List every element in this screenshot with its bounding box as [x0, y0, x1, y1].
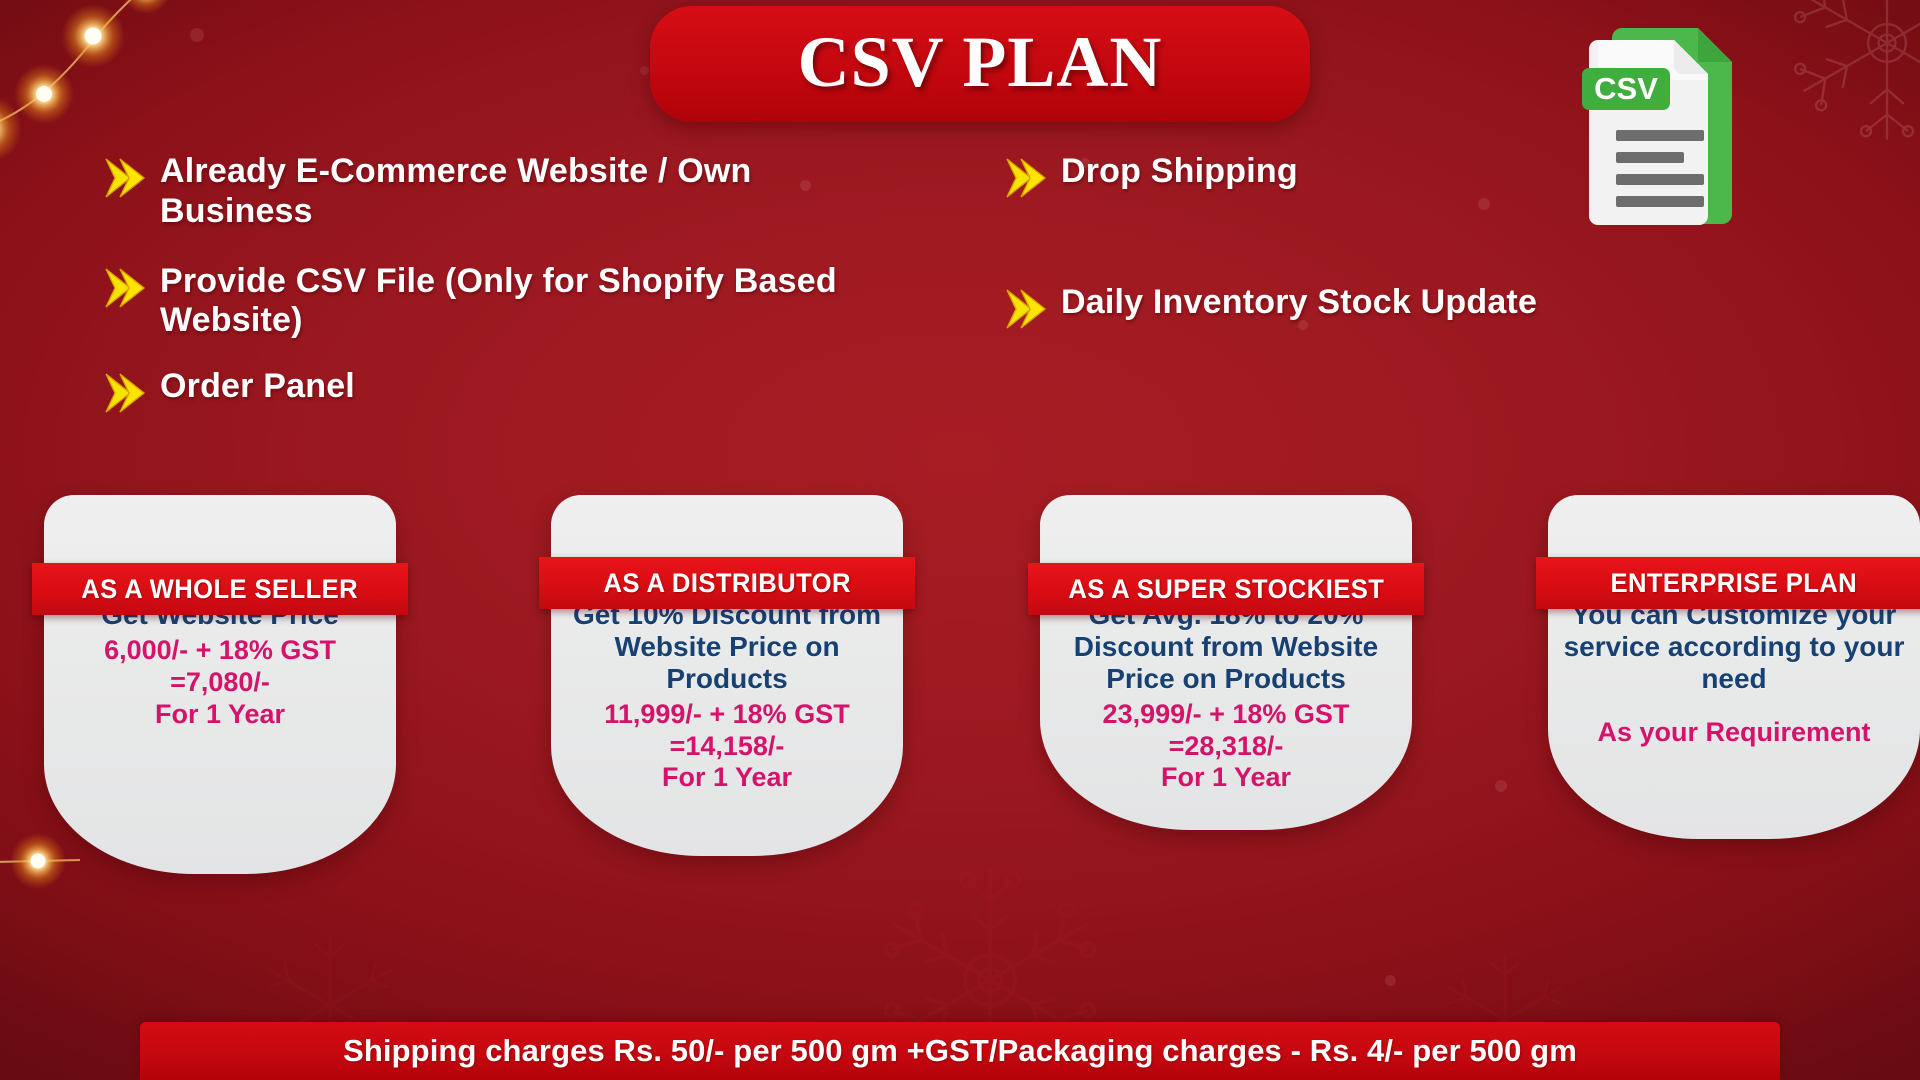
pricing-card-whole-seller[interactable]: AS A WHOLE SELLER Get Website Price 6,00… [44, 495, 396, 874]
plan-ribbon: AS A WHOLE SELLER [32, 563, 408, 615]
plan-price: 6,000/- + 18% GST=7,080/-For 1 Year [44, 635, 396, 731]
plan-ribbon-label: AS A WHOLE SELLER [82, 574, 359, 605]
plan-price: As your Requirement [1548, 717, 1920, 749]
plan-price: 11,999/- + 18% GST=14,158/-For 1 Year [551, 699, 903, 795]
plan-ribbon: AS A SUPER STOCKIEST [1028, 563, 1424, 615]
plan-ribbon: AS A DISTRIBUTOR [539, 557, 915, 609]
plan-ribbon-label: ENTERPRISE PLAN [1611, 568, 1858, 599]
plan-price: 23,999/- + 18% GST=28,318/-For 1 Year [1040, 699, 1412, 795]
footer-banner-text: Shipping charges Rs. 50/- per 500 gm +GS… [343, 1033, 1577, 1069]
pricing-card-enterprise[interactable]: ENTERPRISE PLAN You can Customize your s… [1548, 495, 1920, 839]
plan-ribbon-label: AS A SUPER STOCKIEST [1068, 574, 1384, 605]
plan-title: You can Customize your service according… [1548, 599, 1920, 695]
pricing-card-distributor[interactable]: AS A DISTRIBUTOR Get 10% Discount from W… [551, 495, 903, 856]
plan-title: Get 10% Discount from Website Price on P… [551, 599, 903, 695]
footer-banner: Shipping charges Rs. 50/- per 500 gm +GS… [140, 1022, 1780, 1080]
pricing-card-super-stockiest[interactable]: AS A SUPER STOCKIEST Get Avg. 18% to 20%… [1040, 495, 1412, 830]
pricing-cards: AS A WHOLE SELLER Get Website Price 6,00… [0, 0, 1920, 1080]
plan-ribbon-label: AS A DISTRIBUTOR [603, 568, 850, 599]
plan-ribbon: ENTERPRISE PLAN [1536, 557, 1920, 609]
